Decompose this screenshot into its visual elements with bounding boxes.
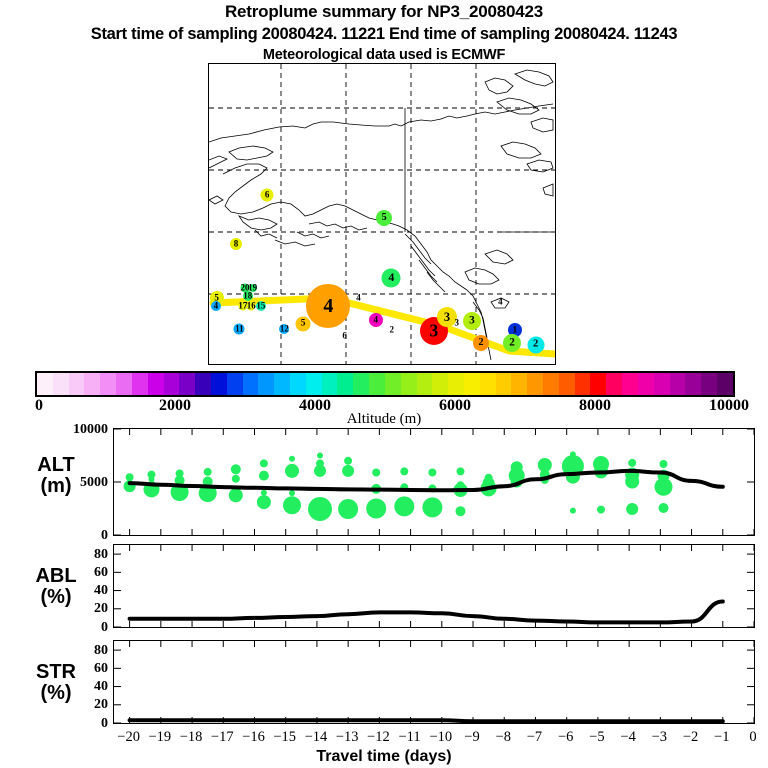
x-tick-label--18: −18 [180, 729, 203, 746]
colorbar-axis-label: Altitude (m) [0, 411, 768, 428]
plume-marker-label-4: 4 [498, 297, 503, 306]
colorbar-swatch-13 [243, 373, 259, 395]
abl-ytick-60: 60 [60, 565, 108, 581]
colorbar-swatch-12 [227, 373, 243, 395]
colorbar-swatch-35 [590, 373, 606, 395]
sampling-time-subtitle: Start time of sampling 20080424. 11221 E… [0, 25, 768, 44]
alt-bubble [259, 471, 269, 481]
colorbar-swatch-24 [417, 373, 433, 395]
colorbar-swatch-28 [480, 373, 496, 395]
alt-bubble [422, 497, 442, 517]
alt-bubble [285, 464, 299, 478]
alt-bubble [260, 459, 268, 467]
plume-marker-label-3: 3 [454, 318, 459, 327]
alt-bubble [308, 497, 332, 521]
colorbar-swatch-6 [132, 373, 148, 395]
colorbar-swatch-31 [527, 373, 543, 395]
alt-bubble [261, 490, 267, 496]
plume-marker-label-2: 2 [478, 338, 483, 348]
colorbar-swatch-11 [211, 373, 227, 395]
plume-marker-label-4: 4 [356, 294, 361, 303]
alt-bubble [456, 506, 466, 516]
plume-marker-label-2: 2 [533, 339, 538, 350]
alt-bubble [314, 465, 326, 477]
colorbar-swatch-0 [37, 373, 53, 395]
abl-plot-graphics [114, 545, 754, 627]
colorbar-swatch-16 [290, 373, 306, 395]
alt-bubble [457, 467, 465, 475]
plume-marker-label-3: 3 [444, 311, 450, 324]
x-tick-label--6: −6 [558, 729, 573, 746]
x-tick-label--16: −16 [242, 729, 265, 746]
colorbar-swatch-33 [559, 373, 575, 395]
plume-marker-label-4: 4 [323, 296, 333, 316]
colorbar-swatch-20 [353, 373, 369, 395]
colorbar-swatch-5 [116, 373, 132, 395]
colorbar-swatch-1 [53, 373, 69, 395]
str-plot-graphics [114, 641, 754, 723]
str-ytick-60: 60 [60, 661, 108, 677]
x-tick-label--8: −8 [496, 729, 511, 746]
x-tick-label--11: −11 [399, 729, 421, 746]
x-tick-label--5: −5 [589, 729, 604, 746]
colorbar-swatch-19 [337, 373, 353, 395]
alt-bubble [626, 503, 638, 515]
x-tick-label--10: −10 [429, 729, 452, 746]
colorbar-swatch-39 [654, 373, 670, 395]
str-ytick-20: 20 [60, 697, 108, 713]
colorbar-swatch-3 [84, 373, 100, 395]
colorbar-swatch-18 [322, 373, 338, 395]
x-tick-label--20: −20 [117, 729, 140, 746]
alt-bubble [289, 490, 295, 496]
colorbar-swatch-17 [306, 373, 322, 395]
alt-bubble [204, 468, 212, 476]
plume-marker-label-3: 3 [430, 322, 439, 340]
alt-bubble [149, 476, 155, 482]
colorbar-swatch-8 [164, 373, 180, 395]
alt-bubble [342, 465, 354, 477]
plume-marker-label-16: 16 [247, 301, 256, 310]
colorbar-swatch-40 [670, 373, 686, 395]
alt-bubble [428, 469, 436, 477]
x-axis-tick-labels: −20−19−18−17−16−15−14−13−12−11−10−9−8−7−… [113, 729, 755, 745]
abl-ytick-20: 20 [60, 601, 108, 617]
colorbar-swatch-36 [606, 373, 622, 395]
str-ytick-0: 0 [60, 716, 108, 732]
colorbar-swatch-25 [432, 373, 448, 395]
colorbar-swatch-4 [100, 373, 116, 395]
plume-marker-label-6: 6 [342, 331, 347, 340]
colorbar-swatch-32 [543, 373, 559, 395]
plume-marker-label-12: 12 [280, 324, 289, 333]
x-tick-label--19: −19 [148, 729, 171, 746]
colorbar-swatch-42 [701, 373, 717, 395]
alt-bubble [625, 475, 639, 489]
colorbar-swatch-21 [369, 373, 385, 395]
colorbar-swatch-10 [195, 373, 211, 395]
x-tick-label-0: 0 [749, 729, 756, 746]
colorbar-swatch-27 [464, 373, 480, 395]
plume-marker-label-15: 15 [256, 301, 265, 310]
alt-bubble [257, 495, 271, 509]
alt-bubble [660, 460, 668, 468]
alt-bubble [570, 508, 576, 514]
x-tick-label--2: −2 [683, 729, 698, 746]
alt-plot[interactable] [113, 428, 755, 536]
abl-trend-line [130, 602, 723, 623]
plume-marker-label-18: 18 [243, 291, 252, 300]
x-tick-label--12: −12 [367, 729, 390, 746]
plume-marker-label-8: 8 [234, 240, 239, 249]
alt-bubble [232, 475, 240, 483]
alt-bubble [372, 469, 380, 477]
abl-plot[interactable] [113, 544, 755, 628]
alt-bubble [338, 499, 358, 519]
plume-marker-label-5: 5 [301, 320, 306, 329]
alt-bubble [126, 473, 134, 481]
alt-bubble [655, 478, 673, 496]
alt-ytick-10000: 10000 [60, 422, 108, 438]
colorbar-swatch-41 [685, 373, 701, 395]
colorbar-swatch-2 [69, 373, 85, 395]
x-tick-label--1: −1 [714, 729, 729, 746]
abl-ytick-0: 0 [60, 620, 108, 636]
x-tick-label--7: −7 [527, 729, 542, 746]
colorbar-swatch-37 [622, 373, 638, 395]
plume-marker-label-11: 11 [235, 324, 244, 333]
colorbar-swatch-34 [575, 373, 591, 395]
plume-marker-label-4: 4 [214, 301, 219, 310]
colorbar-swatch-29 [496, 373, 512, 395]
plume-marker-label-2: 2 [509, 337, 515, 348]
x-tick-label--13: −13 [336, 729, 359, 746]
str-ytick-80: 80 [60, 643, 108, 659]
x-tick-label--4: −4 [620, 729, 635, 746]
alt-plot-graphics [114, 429, 754, 535]
colorbar-swatch-23 [401, 373, 417, 395]
colorbar-swatch-9 [179, 373, 195, 395]
x-tick-label--17: −17 [211, 729, 234, 746]
alt-bubble [283, 496, 301, 514]
x-tick-label--9: −9 [464, 729, 479, 746]
alt-bubble [344, 457, 352, 465]
altitude-colorbar[interactable] [35, 371, 735, 397]
x-axis-title: Travel time (days) [0, 748, 768, 766]
str-ytick-40: 40 [60, 679, 108, 695]
plume-marker-label-2: 2 [389, 325, 394, 334]
x-tick-label--14: −14 [305, 729, 328, 746]
x-tick-label--15: −15 [273, 729, 296, 746]
colorbar-swatch-7 [148, 373, 164, 395]
str-plot[interactable] [113, 640, 755, 724]
alt-bubble [597, 506, 605, 514]
plume-marker-label-3: 3 [469, 315, 475, 326]
colorbar-swatch-38 [638, 373, 654, 395]
colorbar-swatch-14 [258, 373, 274, 395]
page-title: Retroplume summary for NP3_20080423 [0, 2, 768, 22]
alt-bubble [400, 467, 408, 475]
plume-marker-label-4: 4 [388, 272, 394, 284]
plume-marker-label-4: 4 [374, 315, 379, 324]
colorbar-swatch-30 [511, 373, 527, 395]
colorbar-swatch-43 [717, 373, 733, 395]
plume-marker-label-6: 6 [265, 191, 270, 200]
x-tick-label--3: −3 [652, 729, 667, 746]
colorbar-swatch-22 [385, 373, 401, 395]
retroplume-map[interactable]: 6584201918171615544441112562333324122 [208, 63, 556, 365]
abl-ytick-80: 80 [60, 547, 108, 563]
alt-bubble [366, 499, 386, 519]
abl-ytick-40: 40 [60, 583, 108, 599]
alt-bubble [394, 496, 414, 516]
str-trend-line [130, 720, 723, 721]
meteorology-subtitle: Meteorological data used is ECMWF [0, 47, 768, 63]
alt-bubble [628, 459, 636, 467]
alt-bubble [229, 488, 243, 502]
plume-marker-label-5: 5 [382, 213, 387, 223]
alt-bubble [659, 503, 669, 513]
alt-ytick-5000: 5000 [60, 475, 108, 491]
alt-bubble [289, 456, 295, 462]
alt-bubble [231, 464, 241, 474]
colorbar-swatch-26 [448, 373, 464, 395]
alt-ytick-0: 0 [60, 528, 108, 544]
colorbar-swatch-15 [274, 373, 290, 395]
alt-bubble [317, 453, 323, 459]
